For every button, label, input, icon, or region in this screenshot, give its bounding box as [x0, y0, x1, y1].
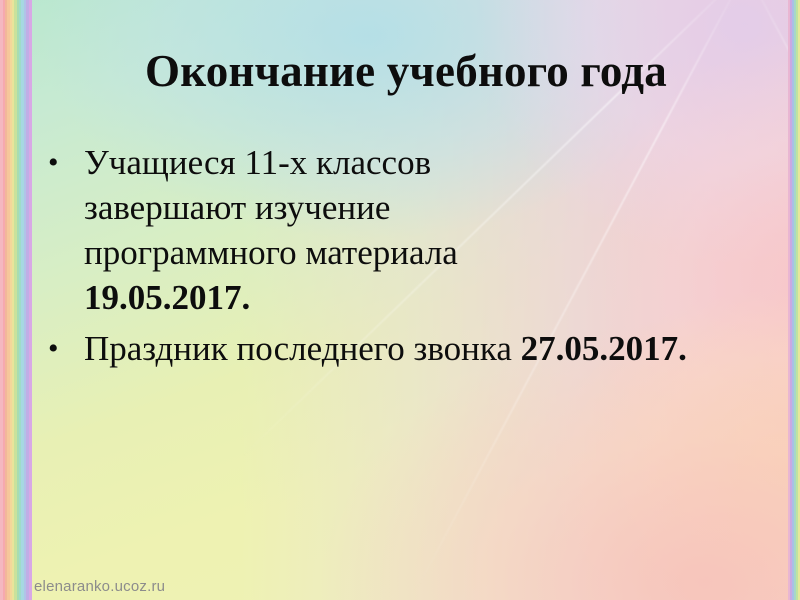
right-rainbow-border	[788, 0, 800, 600]
slide-body: • Учащиеся 11-х классов завершают изучен…	[42, 140, 758, 371]
source-watermark: elenaranko.ucoz.ru	[34, 578, 165, 595]
presentation-slide: Окончание учебного года • Учащиеся 11-х …	[0, 0, 800, 600]
bullet-text-2: Праздник последнего звонка 27.05.2017.	[84, 326, 758, 371]
bullet-marker-icon: •	[42, 326, 84, 371]
bullet-text-1: Учащиеся 11-х классов завершают изучение…	[84, 140, 589, 320]
bullet-2-lead-text: Праздник последнего звонка	[84, 329, 521, 368]
left-rainbow-border	[0, 0, 32, 600]
slide-title: Окончание учебного года	[56, 48, 756, 95]
bullet-2-date: 27.05.2017.	[521, 329, 687, 368]
bullet-1-date: 19.05.2017.	[84, 278, 250, 317]
border-stripe-13	[29, 0, 32, 600]
bullet-item-1: • Учащиеся 11-х классов завершают изучен…	[42, 140, 758, 320]
bullet-item-2: • Праздник последнего звонка 27.05.2017.	[42, 326, 758, 371]
bullet-1-lead-text: Учащиеся 11-х классов завершают изучение…	[84, 143, 458, 272]
bullet-marker-icon: •	[42, 140, 84, 185]
